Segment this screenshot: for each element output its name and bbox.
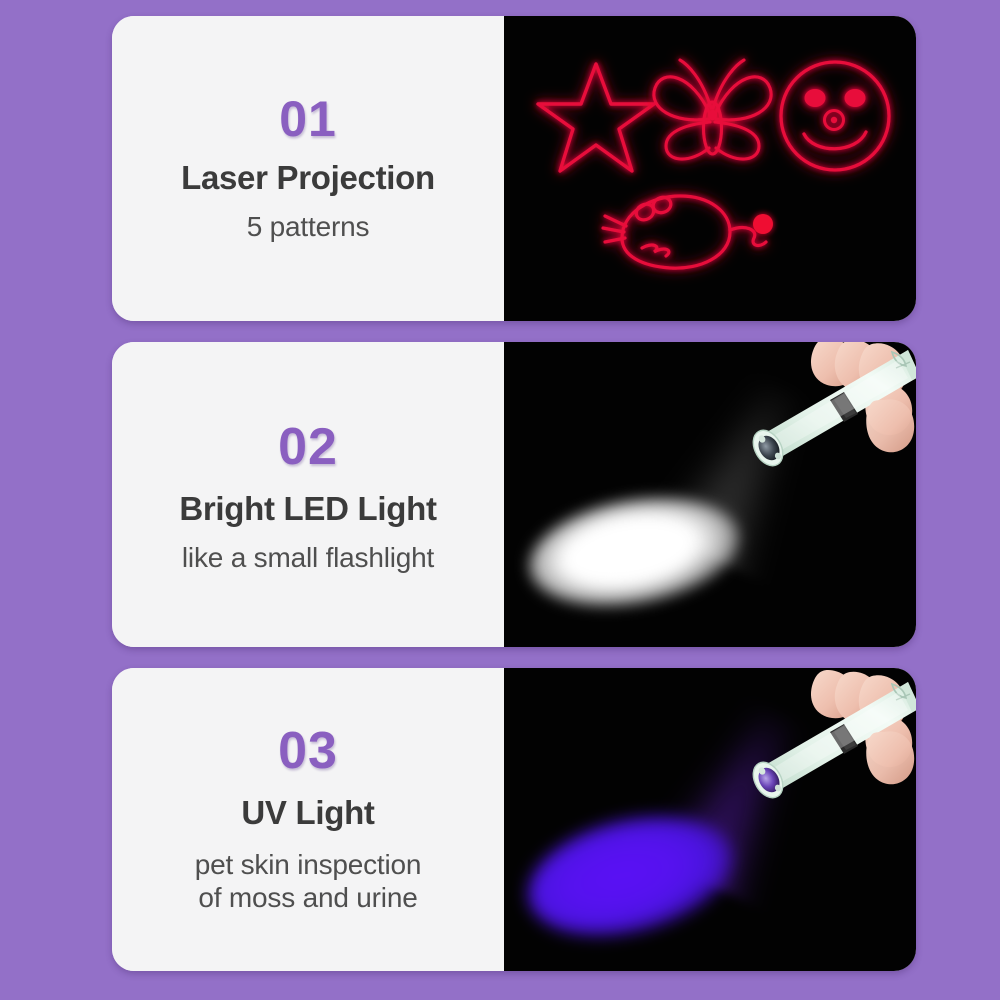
laser-pointer-device — [732, 342, 916, 498]
star-icon — [538, 64, 654, 171]
thumb — [866, 731, 914, 784]
feature-card-uv-light: 03 UV Light pet skin inspection of moss … — [112, 668, 916, 971]
feature-subtitle-line-1: pet skin inspection — [195, 848, 422, 881]
feature-text-pane: 02 Bright LED Light like a small flashli… — [112, 342, 504, 647]
feature-title: Laser Projection — [181, 160, 435, 197]
feature-number: 01 — [279, 94, 337, 144]
feature-text-pane: 03 UV Light pet skin inspection of moss … — [112, 668, 504, 971]
laser-pointer-device — [732, 670, 916, 830]
feature-subtitle-line-2: of moss and urine — [195, 881, 422, 914]
led-light-demo — [504, 342, 916, 647]
laser-patterns-svg — [504, 16, 916, 321]
feature-number: 02 — [278, 421, 338, 473]
feature-card-bright-led-light: 02 Bright LED Light like a small flashli… — [112, 342, 916, 647]
thumb — [866, 399, 914, 452]
feature-subtitle: 5 patterns — [247, 210, 370, 243]
feature-title: Bright LED Light — [179, 491, 436, 528]
feature-subtitle: like a small flashlight — [182, 541, 434, 574]
feature-text-pane: 01 Laser Projection 5 patterns — [112, 16, 504, 321]
feature-number: 03 — [278, 725, 338, 777]
laser-pattern-showcase — [504, 16, 916, 321]
smiley-face-icon — [781, 62, 889, 170]
butterfly-icon — [654, 60, 771, 159]
infographic-root: 01 Laser Projection 5 patterns — [0, 0, 1000, 1000]
mouse-icon — [603, 195, 766, 268]
feature-subtitle: pet skin inspection of moss and urine — [195, 848, 422, 914]
uv-light-demo — [504, 668, 916, 971]
feature-card-laser-projection: 01 Laser Projection 5 patterns — [112, 16, 916, 321]
feature-title: UV Light — [241, 795, 374, 832]
dot-icon — [753, 214, 773, 234]
